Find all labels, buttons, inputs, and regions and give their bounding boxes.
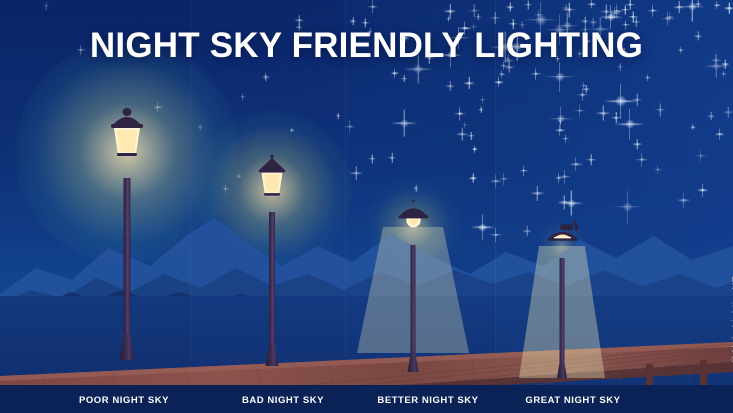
lamp-post-great [560, 258, 565, 378]
caption-poor: POOR NIGHT SKY [34, 395, 214, 406]
page-title: NIGHT SKY FRIENDLY LIGHTING [0, 26, 733, 66]
caption-great: GREAT NIGHT SKY [483, 395, 663, 406]
lamp-fixture-great [538, 211, 587, 260]
infographic-canvas: NIGHT SKY FRIENDLY LIGHTING POOR NIGHT S… [0, 0, 733, 413]
